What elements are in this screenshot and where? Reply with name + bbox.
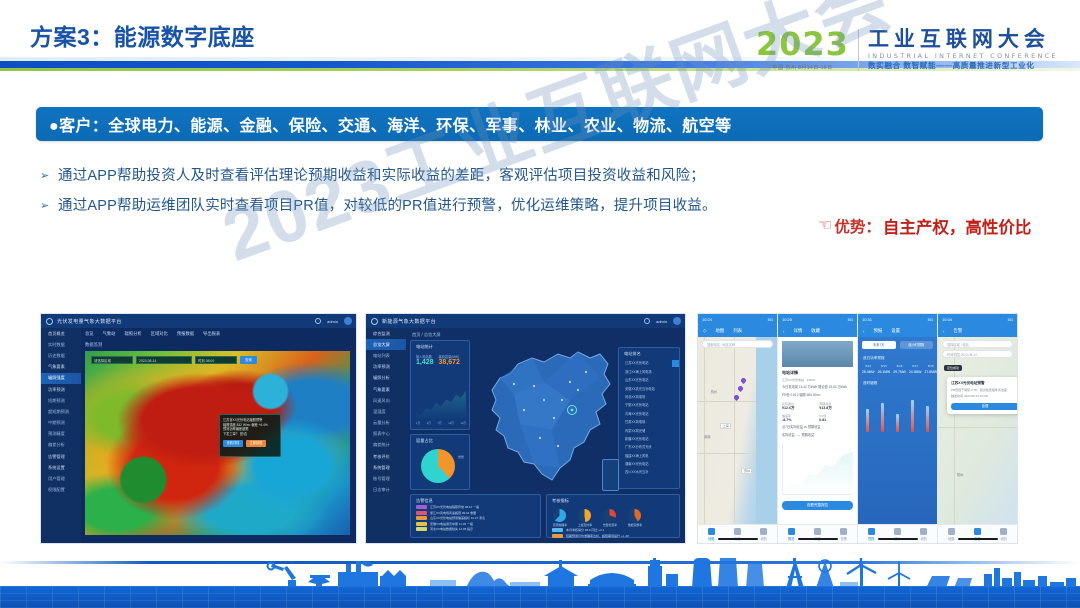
map-label: 南京 xyxy=(704,434,710,439)
list-item[interactable]: 湖南XX光伏电站 xyxy=(619,458,679,466)
donut-gauge xyxy=(628,509,641,522)
home-indicator xyxy=(718,538,758,540)
back-icon[interactable]: ‹ xyxy=(863,329,864,334)
sidebar-item[interactable]: 报表中心 xyxy=(366,429,406,440)
list-item[interactable]: 福建XX海上风电 xyxy=(619,449,679,457)
date-input[interactable]: 2023-08-14 xyxy=(136,356,192,364)
list-item[interactable]: 浙江XX海上风电场 xyxy=(619,365,679,373)
map-label: 杭州 xyxy=(957,472,963,477)
dashboard-title: 光伏发电量气象大数据平台 xyxy=(57,318,122,325)
map-chip[interactable]: 苏州 xyxy=(741,468,752,474)
popup-title: 江苏XX光伏电站预警 xyxy=(951,381,1017,386)
station-icon[interactable] xyxy=(734,528,741,535)
tab-label[interactable]: 地图 xyxy=(948,536,955,541)
sidebar-item-active[interactable]: 总览大屏 xyxy=(366,339,406,350)
tab-label[interactable]: 我的 xyxy=(1000,536,1007,541)
alarm-icon[interactable] xyxy=(840,528,847,535)
tick-label: 10月 xyxy=(448,421,453,425)
severity-swatch xyxy=(416,527,427,531)
column-head: 8/16 xyxy=(893,364,906,368)
status-network: 5G xyxy=(768,317,773,322)
back-icon[interactable]: ‹ xyxy=(783,329,784,334)
chevron-right-icon: ➢ xyxy=(36,162,58,190)
segment-button[interactable]: 未来7天 xyxy=(862,341,896,349)
tab-label[interactable]: 地图 xyxy=(708,536,715,541)
map-popup: 江苏省XX光伏电站辐照预警 辐照强度 832 W/m² 偏差 +6.4% 预测功… xyxy=(219,414,281,457)
toast-message: 定位成功 xyxy=(944,365,962,371)
tick-label: 7月 xyxy=(438,421,442,425)
column-value: 26.1MW xyxy=(878,370,891,374)
avatar[interactable] xyxy=(673,317,681,325)
panel-title: 容量占比 xyxy=(411,435,469,444)
forecast-body: 未来7天 逐小时预报 逐日功率预报 8/1428.4MW 8/1526.1MW … xyxy=(858,337,937,524)
logo-slogan: 数实融合 数智赋能——高质量推进新型工业化 xyxy=(868,62,1058,70)
tab-bar: 预报 统计 我的 xyxy=(858,524,937,543)
hourly-bar-columns xyxy=(858,386,937,432)
gauge-label: 预测准确率 xyxy=(553,523,567,527)
phone-screen-map: 10:24 5G ◇ 地图 列表 杭州 南京 xyxy=(698,314,778,543)
note-text: 本月考核得分 93.6 同比 +2.1 xyxy=(566,528,604,532)
region-select[interactable]: 请选择区域 xyxy=(91,356,133,364)
list-item[interactable]: 宁夏XX光伏电站 xyxy=(619,399,679,407)
status-time: 10:31 xyxy=(862,317,872,322)
severity-swatch xyxy=(416,511,427,515)
list-item[interactable]: 甘肃XX风电场 xyxy=(619,416,679,424)
map-icon[interactable] xyxy=(708,528,715,535)
status-bar: 10:25 5G xyxy=(778,314,857,325)
logo-divider xyxy=(858,29,859,71)
gauge-label: 告警处置率 xyxy=(603,523,617,527)
nav-bar: ‹ 预报 设置 xyxy=(858,325,937,337)
chart-series-area xyxy=(783,443,853,494)
nav-item[interactable]: 详情 xyxy=(793,328,802,334)
list-item[interactable]: 广东XX分布式光伏 xyxy=(619,441,679,449)
radiation-heatmap[interactable] xyxy=(85,351,350,535)
card-subtitle: 江苏XX光伏电站 · 30MW xyxy=(782,378,853,382)
tab[interactable]: 气象站 xyxy=(103,331,116,337)
titlebar-actions: admin xyxy=(644,317,681,325)
sidebar-item[interactable]: 温湿度 xyxy=(366,406,406,417)
metric-row: PR值 0.812 辐照 684 W/m² xyxy=(782,393,853,398)
card-title: 电站详情 xyxy=(782,370,853,376)
note-text: 短期预测月均准确率达标，超短期待提升 +1.4% xyxy=(566,534,629,538)
region-filter-input[interactable]: 选择区域 / 电站 xyxy=(942,340,1013,348)
tick-label: 4月 xyxy=(427,421,431,425)
list-item[interactable]: 四川XX水光互补 xyxy=(619,466,679,474)
donut-gauge xyxy=(603,509,616,522)
footer-sea-grid xyxy=(0,586,1080,608)
segmented-control: 未来7天 逐小时预报 xyxy=(858,337,937,353)
popup-action-button[interactable]: 处理 xyxy=(951,403,1017,410)
advantage-value: 自主产权，高性价比 xyxy=(883,214,1032,238)
list-item[interactable]: 河北XX风电场 xyxy=(619,391,679,399)
block-title: 逐日功率预报 xyxy=(858,353,937,361)
column-head: 8/14 xyxy=(862,364,875,368)
alarm-text: 江苏XX光伏电站辐照异常 08:12 一般 xyxy=(430,505,479,509)
gauge-label: 数据完整率 xyxy=(628,523,642,527)
map-icon[interactable] xyxy=(948,528,955,535)
column-head: 8/18 xyxy=(925,364,938,368)
map-canvas[interactable]: 杭州 南京 上海 苏州 xyxy=(698,337,777,524)
tab-bar: 地图 电站 我的 xyxy=(698,524,777,543)
home-indicator xyxy=(798,538,838,540)
date-range-text: 时间范围 2023-08-14 xyxy=(947,353,977,357)
nav-bar: ‹ 详情 收藏 xyxy=(778,325,857,337)
column-head: 8/17 xyxy=(909,364,922,368)
tab-bar: 概览 收益 告警 xyxy=(778,524,857,543)
advantage-callout: ☞ 优势： 自主产权，高性价比 xyxy=(818,214,1031,238)
popup-line: 下发工单？ 是/否 xyxy=(223,432,277,437)
status-time: 10:24 xyxy=(702,317,712,322)
donut-gauge xyxy=(578,509,591,522)
sidebar-item[interactable]: 预测精度 xyxy=(41,429,81,440)
overview-icon[interactable] xyxy=(788,528,795,535)
sidebar-item[interactable]: 风速风向 xyxy=(366,395,406,406)
kpi-value: 38,672 xyxy=(439,359,460,366)
bell-icon[interactable] xyxy=(315,318,321,324)
customers-banner-text: ●客户：全球电力、能源、金融、保险、交通、海洋、环保、军事、林业、农业、物流、航… xyxy=(36,112,731,136)
subnav-label: 数据监测 xyxy=(85,342,102,348)
logo-name-en: INDUSTRIAL INTERNET CONFERENCE xyxy=(868,53,1058,59)
segment-button[interactable]: 逐小时预报 xyxy=(900,341,934,349)
bullet-text: 通过APP帮助投资人及时查看评估理论预期收益和实际收益的差距，客观评估项目投资收… xyxy=(58,162,705,190)
sidebar-item[interactable]: 告警管理 xyxy=(41,451,81,462)
tab-label[interactable]: 我的 xyxy=(760,536,767,541)
nav-item[interactable]: 告警 xyxy=(953,328,962,334)
sidebar-item[interactable]: 短期预测 xyxy=(41,395,81,406)
list-item[interactable]: 新疆XX光伏电站 xyxy=(619,433,679,441)
donut-gauge xyxy=(553,509,566,522)
tab[interactable]: 预报数据 xyxy=(177,331,194,337)
sidebar-item[interactable]: 云量分析 xyxy=(366,418,406,429)
map-body[interactable]: 杭州 南京 上海 苏州 搜索电站 / 地区名称 xyxy=(698,337,777,524)
revenue-icon[interactable] xyxy=(814,528,821,535)
list-item[interactable]: 江苏XX光伏电站 xyxy=(619,357,679,365)
tab[interactable]: 总览 xyxy=(85,331,94,337)
user-name: admin xyxy=(656,319,667,324)
legend-expected: 预期收益 xyxy=(801,433,814,437)
time-select[interactable]: 时刻 08:00 xyxy=(195,356,237,364)
sidebar-item[interactable]: 超短期预测 xyxy=(41,406,81,417)
sidebar: 首页概览 实时数据 历史数据 气象要素 辐照强度 功率预测 短期预测 超短期预测… xyxy=(41,328,81,543)
sidebar-item[interactable]: 系统设置 xyxy=(41,462,81,473)
panel-title: 电站统计 xyxy=(411,341,469,350)
metric-grid: 实际收益¥12.6万 预期收益¥13.8万 偏差率-8.7% PR值0.81 xyxy=(782,402,853,422)
status-network: 5G xyxy=(848,317,853,322)
gauge-label: 上报及时率 xyxy=(578,523,592,527)
bullet-text: 通过APP帮助运维团队实时查看项目PR值，对较低的PR值进行预警，优化运维策略，… xyxy=(58,192,717,220)
nav-bar: ‹ 告警 xyxy=(938,325,1017,337)
panel-title: 电站排名 xyxy=(619,348,679,357)
bullet-list: ➢ 通过APP帮助投资人及时查看评估理论预期收益和实际收益的差距，客观评估项目投… xyxy=(36,162,826,222)
back-icon[interactable]: ◇ xyxy=(703,328,706,334)
pie-legend-label: 光伏 xyxy=(458,455,464,459)
forecast-icon[interactable] xyxy=(868,528,875,535)
tab-label[interactable]: 告警 xyxy=(840,536,847,541)
metric-value: -8.7% xyxy=(782,418,813,422)
column-value: 28.4MW xyxy=(862,370,875,374)
legend-actual: 实际收益 xyxy=(782,433,795,437)
popup-detail-button[interactable]: 查看详情 xyxy=(223,440,243,447)
note-swatch xyxy=(552,534,563,538)
popup-line: PR值低于阈值 0.78，建议检查组件清洁度 xyxy=(951,388,1017,392)
metric-value: ¥13.8万 xyxy=(819,406,850,411)
sidebar-item[interactable]: 系统管理 xyxy=(366,462,406,473)
logo-date: 中国·苏州 8月14日-16日 xyxy=(756,64,849,71)
sidebar-item[interactable]: 考核评价 xyxy=(366,451,406,462)
sidebar-item[interactable]: 气象要素 xyxy=(41,362,81,373)
tab[interactable]: 区域对比 xyxy=(151,331,168,337)
sidebar-item[interactable]: 权限配置 xyxy=(41,485,81,496)
screenshot-weather-heatmap-dashboard: 光伏发电量气象大数据平台 admin 首页概览 实时数据 历史数据 气象要素 辐… xyxy=(40,313,357,544)
logo-year: 2023 xyxy=(756,28,849,60)
nav-item[interactable]: 收藏 xyxy=(811,328,820,334)
map-filter-bar: 请选择区域 2023-08-14 时刻 08:00 查询 xyxy=(91,356,257,364)
advantage-label: 优势： xyxy=(834,215,881,237)
sidebar-item[interactable]: 实时数据 xyxy=(41,339,81,350)
nav-item[interactable]: 列表 xyxy=(733,328,742,334)
tab-label[interactable]: 我的 xyxy=(920,536,927,541)
map-pin-icon[interactable] xyxy=(740,377,747,384)
sidebar-item[interactable]: 辐照分析 xyxy=(366,373,406,384)
nav-bar: ◇ 地图 列表 xyxy=(698,325,777,337)
metric-value: 0.81 xyxy=(819,418,850,422)
note-swatch xyxy=(552,528,563,532)
metric-row: 今日发电量 18.42 万kWh 理论值 19.63 万kWh xyxy=(782,385,853,390)
pie-chart xyxy=(421,449,455,483)
home-indicator xyxy=(878,538,918,540)
nav-item[interactable]: 预报 xyxy=(873,328,882,334)
sidebar-item[interactable]: 中期预测 xyxy=(41,418,81,429)
detail-body: 电站详情 江苏XX光伏电站 · 30MW 今日发电量 18.42 万kWh 理论… xyxy=(778,337,857,524)
dashboard-titlebar: 新能源气象大数据平台 admin xyxy=(366,314,685,328)
status-bar: 10:34 5G xyxy=(938,314,1017,325)
search-input[interactable]: 搜索电站 / 地区名称 xyxy=(702,340,773,348)
user-name: admin xyxy=(327,319,338,324)
sidebar-item[interactable]: 综合监测 xyxy=(366,328,406,339)
sidebar-item[interactable]: 功率预测 xyxy=(366,362,406,373)
sidebar-item[interactable]: 偏差分析 xyxy=(41,440,81,451)
panel-kpi-rings: 考核指标 预测准确率 上报及时率 告警处置率 数据完整率 本月考核得分 93.6… xyxy=(546,494,680,538)
app-logo-icon xyxy=(371,318,378,325)
sidebar-item[interactable]: 偏差统计 xyxy=(366,440,406,451)
sidebar-item[interactable]: 电站列表 xyxy=(366,350,406,361)
tab-bar: 地图 告警 我的 xyxy=(938,524,1017,543)
list-item[interactable]: 内蒙XX风光储 xyxy=(619,424,679,432)
sidebar-item-active[interactable]: 辐照强度 xyxy=(41,373,81,384)
list-item[interactable]: 山东XX光伏电站 xyxy=(619,374,679,382)
column-head: 8/15 xyxy=(878,364,891,368)
severity-swatch xyxy=(416,522,427,526)
titlebar-actions: admin xyxy=(315,317,352,325)
back-icon[interactable]: ‹ xyxy=(943,329,944,334)
column-value: 27.8MW xyxy=(925,370,938,374)
tab-label[interactable]: 预报 xyxy=(868,536,875,541)
tab-label[interactable]: 概览 xyxy=(788,536,795,541)
user-icon[interactable] xyxy=(1000,528,1007,535)
popup-action-button[interactable]: 立即处理 xyxy=(246,440,266,447)
sidebar-item[interactable]: 日志审计 xyxy=(366,485,406,496)
avatar[interactable] xyxy=(344,317,352,325)
alarm-popup-card: 江苏XX光伏电站预警 PR值低于阈值 0.78，建议检查组件清洁度 触发时间 2… xyxy=(947,377,1017,414)
alarm-text: 河北XX电站数据缺失 12:05 提示 xyxy=(430,527,473,531)
slide-root: 方案3：能源数字底座 2023 中国·苏州 8月14日-16日 工业互联网大会 … xyxy=(0,0,1080,608)
alarm-body: 苏州 杭州 选择区域 / 电站 时间范围 2023-08-14 定位成功 江苏X… xyxy=(938,337,1017,524)
map-label: 杭州 xyxy=(711,389,717,394)
list-item[interactable]: 青海XX光伏电站 xyxy=(619,407,679,415)
map-chip[interactable]: 上海 xyxy=(720,423,731,429)
expand-button[interactable] xyxy=(672,360,679,367)
list-item: ➢ 通过APP帮助投资人及时查看评估理论预期收益和实际收益的差距，客观评估项目投… xyxy=(36,162,826,190)
chevron-right-icon: ➢ xyxy=(36,192,58,220)
map-water xyxy=(756,337,777,524)
sidebar-item[interactable]: 账号管理 xyxy=(366,473,406,484)
panel-station-stats: 电站统计 接入电站数 1,428 装机容量(MW) 38,672 1月 4月 7… xyxy=(410,340,470,430)
nav-item[interactable]: 设置 xyxy=(891,328,900,334)
map-inset-region xyxy=(602,459,619,491)
breadcrumb: 首页 / 总览大屏 xyxy=(412,332,441,338)
user-icon[interactable] xyxy=(760,528,767,535)
phone-screen-forecast: 10:31 5G ‹ 预报 设置 未来7天 逐小时预报 逐日功率预报 8/142… xyxy=(858,314,938,543)
conference-logo: 2023 中国·苏州 8月14日-16日 工业互联网大会 INDUSTRIAL … xyxy=(756,28,1058,71)
nav-item[interactable]: 地图 xyxy=(715,328,724,334)
panel-capacity-share: 容量占比 光伏 xyxy=(410,434,470,490)
list-item[interactable]: 安徽XX农光互补电站 xyxy=(619,382,679,390)
customers-banner: ●客户：全球电力、能源、金融、保险、交通、海洋、环保、军事、林业、农业、物流、航… xyxy=(36,107,1043,141)
query-button[interactable]: 查询 xyxy=(240,356,257,364)
sidebar-item[interactable]: 气象要素 xyxy=(366,384,406,395)
alarm-text: 山东XX光伏电站预测偏差超标 10:27 紧急 xyxy=(430,516,485,520)
sidebar-item[interactable]: 历史数据 xyxy=(41,350,81,361)
app-logo-icon xyxy=(46,318,53,325)
map-pin-icon[interactable] xyxy=(736,385,743,392)
pointing-hand-icon: ☞ xyxy=(818,218,832,234)
tick-label: 1月 xyxy=(416,421,420,425)
status-network: 5G xyxy=(1008,317,1013,322)
search-placeholder: 搜索电站 / 地区名称 xyxy=(707,343,735,347)
sparkline-area-chart xyxy=(416,388,466,420)
chart-legend: 实际收益 — 预期收益 xyxy=(782,433,853,438)
phone-screen-alarm: 10:34 5G ‹ 告警 苏州 杭州 选择区域 / 电站 时间范围 2023-… xyxy=(938,314,1017,543)
block-title: 逐时辐照 xyxy=(858,378,937,386)
sidebar-item[interactable]: 用户管理 xyxy=(41,473,81,484)
user-icon[interactable] xyxy=(920,528,927,535)
refresh-icon[interactable] xyxy=(644,318,650,324)
date-range-input[interactable]: 时间范围 2023-08-14 xyxy=(942,350,1013,358)
dashboard-title: 新能源气象大数据平台 xyxy=(382,318,436,325)
severity-swatch xyxy=(416,505,427,509)
screenshot-china-map-analytics-dashboard: 新能源气象大数据平台 admin 综合监测 总览大屏 电站列表 功率预测 辐照分… xyxy=(365,313,686,544)
sparkline-axis: 1月 4月 7月 10月 12月 xyxy=(416,421,466,425)
column-value: 24.3MW xyxy=(909,370,922,374)
list-item: ➢ 通过APP帮助运维团队实时查看项目PR值，对较低的PR值进行预警，优化运维策… xyxy=(36,192,826,220)
stats-icon[interactable] xyxy=(894,528,901,535)
footer-skyline xyxy=(0,562,1080,608)
page-title: 方案3：能源数字底座 xyxy=(30,18,255,52)
sidebar-item[interactable]: 首页概览 xyxy=(41,328,81,339)
sidebar-item[interactable]: 功率预测 xyxy=(41,384,81,395)
phone-screen-detail: 10:25 5G ‹ 详情 收藏 电站详情 江苏XX光伏电站 · 30MW 今日… xyxy=(778,314,858,543)
metric-value: ¥12.6万 xyxy=(782,406,813,411)
status-time: 10:34 xyxy=(942,317,952,322)
region-filter-text: 选择区域 / 电站 xyxy=(947,343,969,347)
status-bar: 10:24 5G xyxy=(698,314,777,325)
tab-bar: 总览 气象站 辐照分析 区域对比 预报数据 导出报表 xyxy=(85,331,220,337)
panel-alarm-list: 告警信息 江苏XX光伏电站辐照异常 08:12 一般 浙江XX风电场风速超限 0… xyxy=(410,494,541,538)
column-value: 29.7MW xyxy=(893,370,906,374)
station-photo xyxy=(782,341,853,367)
tick-label: 12月 xyxy=(461,421,466,425)
panel-title: 告警信息 xyxy=(411,495,540,504)
alarm-icon[interactable] xyxy=(974,528,981,535)
view-report-button[interactable]: 查看完整报告 xyxy=(782,501,853,510)
footer-sea xyxy=(0,586,1080,608)
dashboard-titlebar: 光伏发电量气象大数据平台 admin xyxy=(41,314,356,328)
tab[interactable]: 辐照分析 xyxy=(124,331,141,337)
status-bar: 10:31 5G xyxy=(858,314,937,325)
kpi-value: 1,428 xyxy=(416,359,434,366)
industrial-skyline-graphic xyxy=(0,558,1080,588)
severity-swatch xyxy=(416,516,427,520)
panel-station-ranking: 电站排名 江苏XX光伏电站 浙江XX海上风电场 山东XX光伏电站 安徽XX农光互… xyxy=(618,347,680,489)
home-indicator xyxy=(958,538,998,540)
status-time: 10:25 xyxy=(782,317,792,322)
china-map-graphic[interactable] xyxy=(474,338,620,490)
chart-title: 近7日实际收益 vs 预期收益 xyxy=(782,425,853,430)
popup-line: 触发时间 2023-08-14 10:28 xyxy=(951,394,1017,398)
forecast-day-columns: 8/1428.4MW 8/1526.1MW 8/1629.7MW 8/1724.… xyxy=(858,361,937,374)
status-network: 5G xyxy=(928,317,933,322)
alarm-text: 浙江XX风电场风速超限 09:04 重要 xyxy=(430,511,476,515)
sidebar: 综合监测 总览大屏 电站列表 功率预测 辐照分析 气象要素 风速风向 温湿度 云… xyxy=(366,328,406,543)
alarm-text: 安徽XX电站通讯中断 11:36 一般 xyxy=(430,522,473,526)
panel-title: 考核指标 xyxy=(547,495,679,504)
logo-name-cn: 工业互联网大会 xyxy=(868,29,1058,50)
tab[interactable]: 导出报表 xyxy=(203,331,220,337)
revenue-line-chart xyxy=(782,443,853,495)
screenshot-mobile-app-screens: 10:24 5G ◇ 地图 列表 杭州 南京 xyxy=(697,313,1018,544)
